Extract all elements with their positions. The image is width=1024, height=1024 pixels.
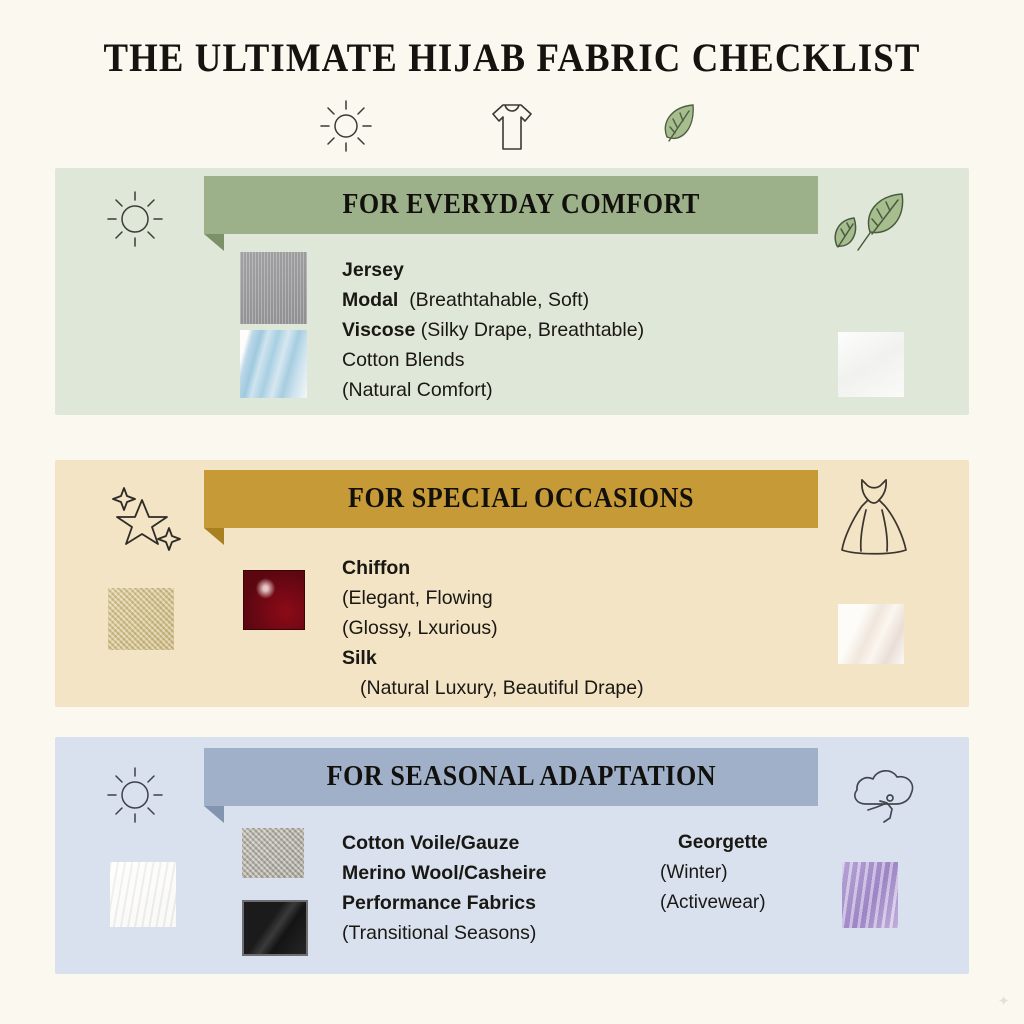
infographic-page: THE ULTIMATE HIJAB FABRIC CHECKLIST: [0, 0, 1024, 1024]
swatch-cotton-blend-white: [838, 332, 904, 397]
fabric-name: Merino Wool/Casheire: [342, 862, 546, 884]
swatch-pearl-satin: [838, 604, 904, 664]
fabric-name: Cotton Voile/Gauze: [342, 832, 519, 854]
fabric-note: (Silky Drape, Breathtable): [421, 319, 644, 341]
sun-icon: [315, 95, 377, 157]
banner-everyday-comfort: FOR EVERYDAY COMFORT: [204, 176, 818, 234]
list-item: Jersey: [342, 255, 644, 285]
fabric-note: (Elegant, Flowing: [342, 587, 493, 609]
swatch-gold-brocade: [108, 588, 174, 650]
leaf-icon: [647, 95, 709, 157]
fabric-list-special-occasions: Chiffon (Elegant, Flowing (Glossy, Lxuri…: [342, 553, 644, 703]
fabric-list-seasonal-left: Cotton Voile/Gauze Merino Wool/Casheire …: [342, 828, 546, 948]
swatch-performance-black: [242, 900, 308, 956]
fabric-name: Chiffon: [342, 557, 410, 579]
banner-seasonal-adaptation: FOR SEASONAL ADAPTATION: [204, 748, 818, 806]
banner-special-occasions: FOR SPECIAL OCCASIONS: [204, 470, 818, 528]
fabric-list-everyday-comfort: Jersey Modal (Breathtahable, Soft) Visco…: [342, 255, 644, 405]
list-item: Silk: [342, 643, 644, 673]
sun-icon: [100, 184, 170, 254]
list-item: (Natural Comfort): [342, 375, 644, 405]
ribbon-fold: [204, 528, 224, 545]
fabric-note: (Natural Comfort): [342, 379, 493, 401]
page-title: THE ULTIMATE HIJAB FABRIC CHECKLIST: [41, 34, 983, 81]
leaves-icon: [824, 184, 914, 260]
swatch-merino-wool-gray: [242, 828, 304, 878]
fabric-note: (Natural Luxury, Beautiful Drape): [360, 677, 644, 699]
list-item: (Elegant, Flowing: [342, 583, 644, 613]
swatch-jersey-knit-gray: [240, 252, 307, 324]
fabric-note: (Activewear): [660, 892, 766, 913]
list-item: (Natural Luxury, Beautiful Drape): [342, 673, 644, 703]
gown-dress-icon: [832, 476, 916, 556]
fabric-name: Jersey: [342, 259, 404, 281]
list-item: Performance Fabrics: [342, 888, 546, 918]
list-item: Cotton Voile/Gauze: [342, 828, 546, 858]
swatch-red-silk-glossy: [243, 570, 305, 630]
cloud-runner-icon: [846, 762, 926, 828]
header-icon-row: [0, 95, 1024, 157]
swatch-viscose-drape-blue: [240, 330, 307, 398]
ribbon-fold: [204, 806, 224, 823]
list-item: Georgette: [660, 828, 768, 858]
fabric-note: (Winter): [660, 862, 728, 883]
list-item: Chiffon: [342, 553, 644, 583]
banner-label: FOR SPECIAL OCCASIONS: [348, 483, 694, 515]
list-item: (Transitional Seasons): [342, 918, 546, 948]
swatch-georgette-purple: [842, 862, 898, 928]
fabric-name: Modal: [342, 289, 398, 311]
swatch-cotton-voile-white: [110, 862, 176, 927]
fabric-name: Georgette: [678, 832, 768, 853]
ribbon-fold: [204, 234, 224, 251]
banner-label: FOR EVERYDAY COMFORT: [342, 189, 700, 221]
list-item: Cotton Blends: [342, 345, 644, 375]
list-item: (Glossy, Lxurious): [342, 613, 644, 643]
fabric-name: Cotton Blends: [342, 349, 465, 371]
fabric-list-seasonal-right: Georgette (Winter) (Activewear): [660, 828, 768, 918]
sparkle-stars-icon: [104, 482, 184, 554]
sun-icon: [100, 760, 170, 830]
fabric-name: Silk: [342, 647, 377, 669]
fabric-name: Performance Fabrics: [342, 892, 536, 914]
fabric-note: (Glossy, Lxurious): [342, 617, 498, 639]
list-item: Viscose (Silky Drape, Breathtable): [342, 315, 644, 345]
list-item: Modal (Breathtahable, Soft): [342, 285, 644, 315]
fabric-name: Viscose: [342, 319, 415, 341]
tshirt-icon: [481, 95, 543, 157]
banner-label: FOR SEASONAL ADAPTATION: [326, 761, 716, 793]
corner-sparkle-icon: ✦: [997, 992, 1010, 1010]
list-item: (Activewear): [660, 888, 768, 918]
list-item: (Winter): [660, 858, 768, 888]
list-item: Merino Wool/Casheire: [342, 858, 546, 888]
fabric-note: (Transitional Seasons): [342, 922, 536, 944]
fabric-note: (Breathtahable, Soft): [409, 289, 589, 311]
